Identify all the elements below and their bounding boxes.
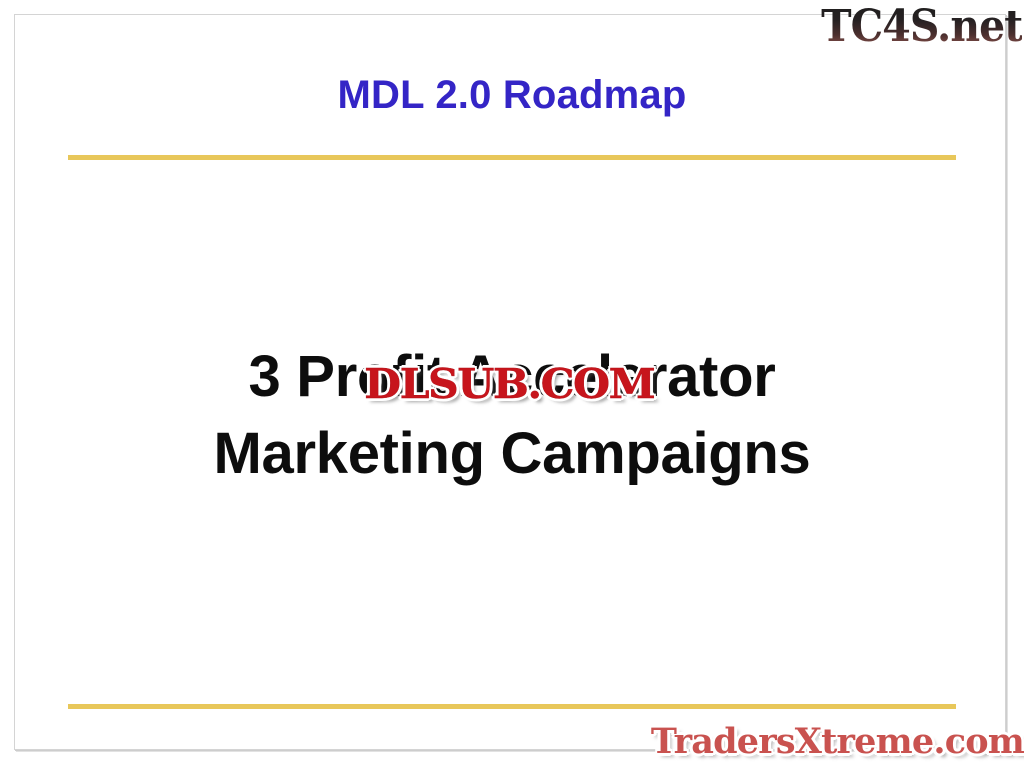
- body-line-2: Marketing Campaigns: [0, 415, 1024, 492]
- slide-canvas: MDL 2.0 Roadmap 3 Profit Accelerator Mar…: [0, 0, 1024, 768]
- page-title: MDL 2.0 Roadmap: [0, 72, 1024, 118]
- body-line-1: 3 Profit Accelerator: [0, 338, 1024, 415]
- slide-body: 3 Profit Accelerator Marketing Campaigns: [0, 338, 1024, 492]
- divider-top: [68, 155, 956, 160]
- divider-bottom: [68, 704, 956, 709]
